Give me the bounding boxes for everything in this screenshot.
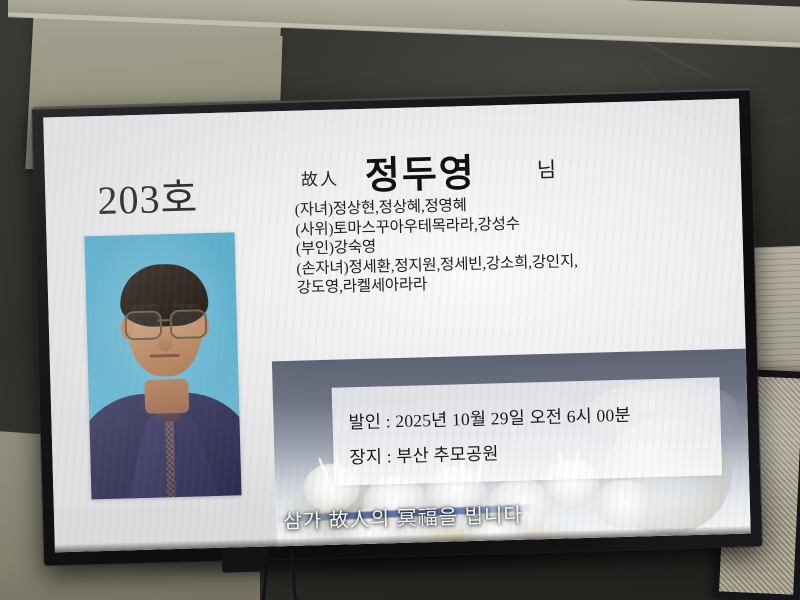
portrait-neck: [144, 379, 189, 414]
room-scene: 203호: [0, 0, 800, 600]
portrait-photo: [84, 232, 241, 499]
family-list: (자녀)정상현,정상혜,정영혜 (사위)토마스꾸아우테목라라,강성수 (부인)강…: [295, 189, 737, 298]
honorific-suffix: 님: [536, 154, 556, 185]
deceased-name: 정두영: [364, 142, 476, 200]
wall-mounted-tv[interactable]: 203호: [32, 88, 762, 565]
room-number: 203호: [97, 165, 199, 226]
funeral-info-panel: 발인 : 2025년 10월 29일 오전 6시 00분 장지 : 부산 추모공…: [332, 377, 723, 485]
departure-info: 발인 : 2025년 10월 29일 오전 6시 00분: [348, 402, 631, 435]
honorific-prefix: 故人: [301, 165, 340, 191]
portrait-nose: [158, 333, 172, 351]
burial-info: 장지 : 부산 추모공원: [349, 440, 499, 469]
tv-wall-mount: [222, 547, 271, 572]
memorial-slide: 203호: [43, 99, 751, 553]
tv-screen[interactable]: 203호: [43, 99, 751, 553]
